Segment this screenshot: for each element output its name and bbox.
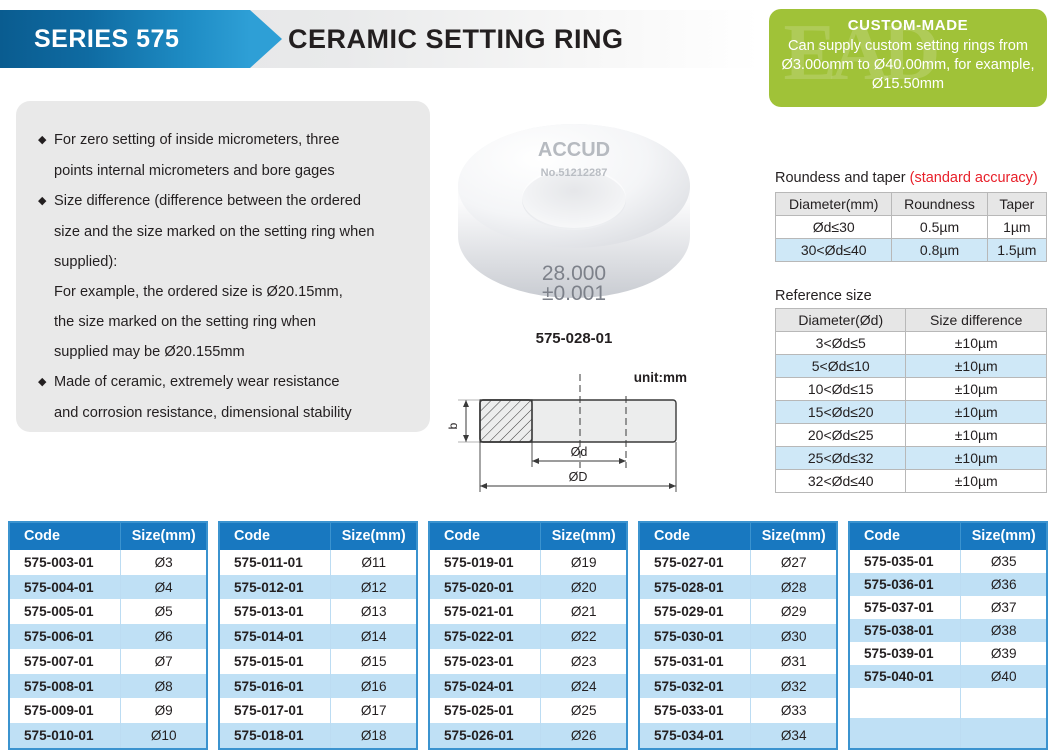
size-cell: Ø4 <box>121 575 207 600</box>
table-row[interactable]: 575-022-01Ø22 <box>429 624 627 649</box>
column-header: Diameter(Ød) <box>776 309 906 332</box>
feature-item: ◆Made of ceramic, extremely wear resista… <box>38 367 412 397</box>
code-table: CodeSize(mm)575-027-01Ø27575-028-01Ø2857… <box>638 521 838 750</box>
column-header: Size(mm) <box>331 522 417 550</box>
size-cell: Ø6 <box>121 624 207 649</box>
table-header-row: Diameter(mm)RoundnessTaper <box>776 193 1047 216</box>
table-row[interactable]: 575-038-01Ø38 <box>849 619 1047 642</box>
size-cell: Ø25 <box>541 698 627 723</box>
feature-text: Made of ceramic, extremely wear resistan… <box>54 367 340 397</box>
table-cell: 10<Ød≤15 <box>776 378 906 401</box>
bullet-diamond-icon: ◆ <box>38 125 54 155</box>
series-arrow-icon <box>250 10 282 68</box>
table-body: Ød≤300.5µm1µm30<Ød≤400.8µm1.5µm <box>776 216 1047 262</box>
table-cell: 1.5µm <box>987 239 1046 262</box>
size-cell: Ø31 <box>751 649 837 674</box>
dim-D-label: ØD <box>569 470 588 484</box>
catalog-page: SERIES 575 CERAMIC SETTING RING EAD CUST… <box>0 0 1056 746</box>
custom-made-box: EAD CUSTOM-MADE Can supply custom settin… <box>769 9 1047 107</box>
code-cell: 575-011-01 <box>219 550 331 575</box>
table-cell: 25<Ød≤32 <box>776 447 906 470</box>
size-cell: Ø35 <box>961 550 1047 573</box>
custom-made-title: CUSTOM-MADE <box>779 17 1037 34</box>
table-header-row: CodeSize(mm) <box>9 522 207 550</box>
table-row[interactable]: 575-033-01Ø33 <box>639 698 837 723</box>
table-row[interactable]: 575-040-01Ø40 <box>849 665 1047 688</box>
size-cell: Ø3 <box>121 550 207 575</box>
feature-text: supplied): <box>54 247 412 277</box>
code-cell: 575-019-01 <box>429 550 541 575</box>
feature-text: For zero setting of inside micrometers, … <box>54 125 340 155</box>
dim-d-label: Ød <box>571 445 588 459</box>
table-row[interactable]: 575-031-01Ø31 <box>639 649 837 674</box>
code-cell <box>849 718 961 749</box>
size-cell: Ø39 <box>961 642 1047 665</box>
table-row: 20<Ød≤25±10µm <box>776 424 1047 447</box>
size-cell: Ø11 <box>331 550 417 575</box>
size-cell: Ø26 <box>541 723 627 749</box>
code-cell: 575-017-01 <box>219 698 331 723</box>
table-row[interactable]: 575-029-01Ø29 <box>639 599 837 624</box>
column-header: Size(mm) <box>751 522 837 550</box>
table-row[interactable]: 575-036-01Ø36 <box>849 573 1047 596</box>
code-cell: 575-021-01 <box>429 599 541 624</box>
cross-section-diagram: b Ød ØD unit:mm <box>444 368 706 498</box>
table-row[interactable]: 575-008-01Ø8 <box>9 674 207 699</box>
table-cell: 20<Ød≤25 <box>776 424 906 447</box>
table-row[interactable]: 575-037-01Ø37 <box>849 596 1047 619</box>
size-cell: Ø17 <box>331 698 417 723</box>
size-cell: Ø14 <box>331 624 417 649</box>
table-row[interactable] <box>849 688 1047 718</box>
table-cell: 0.8µm <box>892 239 987 262</box>
size-cell <box>961 718 1047 749</box>
series-label: SERIES 575 <box>34 25 179 54</box>
code-cell <box>849 688 961 718</box>
table-row[interactable]: 575-019-01Ø19 <box>429 550 627 575</box>
code-cell: 575-016-01 <box>219 674 331 699</box>
table-cell: ±10µm <box>906 378 1047 401</box>
table-body: 3<Ød≤5±10µm5<Ød≤10±10µm10<Ød≤15±10µm15<Ø… <box>776 332 1047 493</box>
table-header-row: CodeSize(mm) <box>219 522 417 550</box>
table-cell: ±10µm <box>906 424 1047 447</box>
code-cell: 575-030-01 <box>639 624 751 649</box>
table-row[interactable]: 575-012-01Ø12 <box>219 575 417 600</box>
table-row[interactable]: 575-018-01Ø18 <box>219 723 417 749</box>
features-panel: ◆For zero setting of inside micrometers,… <box>16 101 430 432</box>
column-header: Size difference <box>906 309 1047 332</box>
reference-caption: Reference size <box>775 288 872 304</box>
bullet-diamond-icon: ◆ <box>38 367 54 397</box>
series-tag: SERIES 575 <box>0 10 250 68</box>
reference-size-table: Diameter(Ød)Size difference 3<Ød≤5±10µm5… <box>775 308 1047 493</box>
technical-drawing: b Ød ØD unit:mm <box>444 368 706 498</box>
table-cell: ±10µm <box>906 470 1047 493</box>
code-cell: 575-015-01 <box>219 649 331 674</box>
size-cell: Ø7 <box>121 649 207 674</box>
serial-mark: No.51212287 <box>541 167 608 179</box>
code-cell: 575-031-01 <box>639 649 751 674</box>
code-cell: 575-037-01 <box>849 596 961 619</box>
code-cell: 575-014-01 <box>219 624 331 649</box>
code-cell: 575-005-01 <box>9 599 121 624</box>
table-row[interactable]: 575-027-01Ø27 <box>639 550 837 575</box>
size-cell: Ø24 <box>541 674 627 699</box>
table-header-row: CodeSize(mm) <box>429 522 627 550</box>
column-header: Roundness <box>892 193 987 216</box>
size-cell: Ø16 <box>331 674 417 699</box>
custom-made-body: Can supply custom setting rings from Ø3.… <box>779 37 1037 94</box>
size-cell: Ø8 <box>121 674 207 699</box>
table-header-row: Diameter(Ød)Size difference <box>776 309 1047 332</box>
table-row[interactable]: 575-026-01Ø26 <box>429 723 627 749</box>
column-header: Code <box>429 522 541 550</box>
column-header: Size(mm) <box>961 522 1047 550</box>
table-row[interactable]: 575-011-01Ø11 <box>219 550 417 575</box>
table-header-row: CodeSize(mm) <box>849 522 1047 550</box>
code-cell: 575-036-01 <box>849 573 961 596</box>
size-cell: Ø34 <box>751 723 837 749</box>
table-row[interactable]: 575-007-01Ø7 <box>9 649 207 674</box>
table-cell: ±10µm <box>906 355 1047 378</box>
code-cell: 575-003-01 <box>9 550 121 575</box>
size-cell: Ø21 <box>541 599 627 624</box>
ceramic-ring-illustration: ACCUD No.51212287 28.000 ±0.001 <box>444 108 704 323</box>
size-cell <box>961 688 1047 718</box>
code-cell: 575-012-01 <box>219 575 331 600</box>
column-header: Code <box>639 522 751 550</box>
roundness-caption-main: Roundess and taper <box>775 170 910 186</box>
table-row[interactable]: 575-020-01Ø20 <box>429 575 627 600</box>
table-row[interactable]: 575-035-01Ø35 <box>849 550 1047 573</box>
column-header: Code <box>219 522 331 550</box>
size-cell: Ø18 <box>331 723 417 749</box>
table-row[interactable]: 575-005-01Ø5 <box>9 599 207 624</box>
table-row: 30<Ød≤400.8µm1.5µm <box>776 239 1047 262</box>
code-cell: 575-013-01 <box>219 599 331 624</box>
code-cell: 575-023-01 <box>429 649 541 674</box>
table-row: 15<Ød≤20±10µm <box>776 401 1047 424</box>
column-header: Code <box>9 522 121 550</box>
code-table: CodeSize(mm)575-035-01Ø35575-036-01Ø3657… <box>848 521 1048 750</box>
size-cell: Ø37 <box>961 596 1047 619</box>
code-cell: 575-004-01 <box>9 575 121 600</box>
table-cell: ±10µm <box>906 332 1047 355</box>
table-row: 32<Ød≤40±10µm <box>776 470 1047 493</box>
size-cell: Ø22 <box>541 624 627 649</box>
size-cell: Ø40 <box>961 665 1047 688</box>
feature-text: size and the size marked on the setting … <box>54 217 412 247</box>
code-cell: 575-022-01 <box>429 624 541 649</box>
feature-text: points internal micrometers and bore gag… <box>54 156 412 186</box>
table-row[interactable]: 575-030-01Ø30 <box>639 624 837 649</box>
table-cell: 32<Ød≤40 <box>776 470 906 493</box>
column-header: Size(mm) <box>541 522 627 550</box>
size-cell: Ø19 <box>541 550 627 575</box>
table-row: 3<Ød≤5±10µm <box>776 332 1047 355</box>
feature-text: and corrosion resistance, dimensional st… <box>54 398 412 428</box>
table-row[interactable]: 575-032-01Ø32 <box>639 674 837 699</box>
feature-text: Size difference (difference between the … <box>54 186 361 216</box>
table-row[interactable]: 575-025-01Ø25 <box>429 698 627 723</box>
table-row: Ød≤300.5µm1µm <box>776 216 1047 239</box>
code-table: CodeSize(mm)575-011-01Ø11575-012-01Ø1257… <box>218 521 418 750</box>
table-cell: 30<Ød≤40 <box>776 239 892 262</box>
table-cell: 3<Ød≤5 <box>776 332 906 355</box>
product-code-label: 575-028-01 <box>444 330 704 347</box>
size-cell: Ø38 <box>961 619 1047 642</box>
table-row[interactable]: 575-017-01Ø17 <box>219 698 417 723</box>
table-row[interactable]: 575-021-01Ø21 <box>429 599 627 624</box>
table-row[interactable]: 575-004-01Ø4 <box>9 575 207 600</box>
size-cell: Ø5 <box>121 599 207 624</box>
code-cell: 575-038-01 <box>849 619 961 642</box>
brand-mark: ACCUD <box>538 139 610 161</box>
table-row: 10<Ød≤15±10µm <box>776 378 1047 401</box>
feature-text: the size marked on the setting ring when <box>54 307 412 337</box>
features-list: ◆For zero setting of inside micrometers,… <box>38 125 412 428</box>
code-cell: 575-024-01 <box>429 674 541 699</box>
code-cell: 575-035-01 <box>849 550 961 573</box>
code-cell: 575-032-01 <box>639 674 751 699</box>
table-row[interactable]: 575-003-01Ø3 <box>9 550 207 575</box>
table-cell: 5<Ød≤10 <box>776 355 906 378</box>
table-row[interactable]: 575-034-01Ø34 <box>639 723 837 749</box>
column-header: Code <box>849 522 961 550</box>
code-cell: 575-010-01 <box>9 723 121 749</box>
table-cell: ±10µm <box>906 401 1047 424</box>
table-row[interactable]: 575-023-01Ø23 <box>429 649 627 674</box>
size-cell: Ø23 <box>541 649 627 674</box>
size-cell: Ø9 <box>121 698 207 723</box>
size-cell: Ø27 <box>751 550 837 575</box>
table-cell: Ød≤30 <box>776 216 892 239</box>
table-row[interactable]: 575-013-01Ø13 <box>219 599 417 624</box>
page-header: SERIES 575 CERAMIC SETTING RING <box>0 10 760 68</box>
size-cell: Ø29 <box>751 599 837 624</box>
code-cell: 575-008-01 <box>9 674 121 699</box>
code-cell: 575-028-01 <box>639 575 751 600</box>
size-cell: Ø10 <box>121 723 207 749</box>
code-cell: 575-034-01 <box>639 723 751 749</box>
code-table: CodeSize(mm)575-003-01Ø3575-004-01Ø4575-… <box>8 521 208 750</box>
code-cell: 575-027-01 <box>639 550 751 575</box>
feature-item: ◆For zero setting of inside micrometers,… <box>38 125 412 155</box>
size-cell: Ø13 <box>331 599 417 624</box>
table-row[interactable]: 575-015-01Ø15 <box>219 649 417 674</box>
table-row[interactable]: 575-010-01Ø10 <box>9 723 207 749</box>
size-cell: Ø32 <box>751 674 837 699</box>
tolerance-mark: ±0.001 <box>542 282 606 305</box>
feature-text: supplied may be Ø20.155mm <box>54 337 412 367</box>
code-cell: 575-025-01 <box>429 698 541 723</box>
size-cell: Ø15 <box>331 649 417 674</box>
table-row[interactable]: 575-009-01Ø9 <box>9 698 207 723</box>
feature-text: For example, the ordered size is Ø20.15m… <box>54 277 412 307</box>
code-cell: 575-026-01 <box>429 723 541 749</box>
table-row: 25<Ød≤32±10µm <box>776 447 1047 470</box>
feature-item: ◆Size difference (difference between the… <box>38 186 412 216</box>
table-row[interactable]: 575-028-01Ø28 <box>639 575 837 600</box>
table-row[interactable]: 575-016-01Ø16 <box>219 674 417 699</box>
code-cell: 575-020-01 <box>429 575 541 600</box>
unit-label: unit:mm <box>634 370 687 385</box>
code-cell: 575-033-01 <box>639 698 751 723</box>
table-row[interactable] <box>849 718 1047 749</box>
size-cell: Ø30 <box>751 624 837 649</box>
dim-b-label: b <box>446 422 460 429</box>
table-row: 5<Ød≤10±10µm <box>776 355 1047 378</box>
page-title: CERAMIC SETTING RING <box>288 10 624 68</box>
roundness-caption-accuracy: (standard accuracy) <box>910 170 1038 186</box>
table-header-row: CodeSize(mm) <box>639 522 837 550</box>
code-cell: 575-006-01 <box>9 624 121 649</box>
table-row[interactable]: 575-024-01Ø24 <box>429 674 627 699</box>
code-cell: 575-029-01 <box>639 599 751 624</box>
table-cell: ±10µm <box>906 447 1047 470</box>
product-photo: ACCUD No.51212287 28.000 ±0.001 <box>444 108 704 323</box>
size-cell: Ø20 <box>541 575 627 600</box>
code-cell: 575-039-01 <box>849 642 961 665</box>
column-header: Diameter(mm) <box>776 193 892 216</box>
code-cell: 575-009-01 <box>9 698 121 723</box>
size-cell: Ø28 <box>751 575 837 600</box>
bullet-diamond-icon: ◆ <box>38 186 54 216</box>
code-cell: 575-007-01 <box>9 649 121 674</box>
table-cell: 1µm <box>987 216 1046 239</box>
table-cell: 0.5µm <box>892 216 987 239</box>
table-row[interactable]: 575-014-01Ø14 <box>219 624 417 649</box>
roundness-caption: Roundess and taper (standard accuracy) <box>775 170 1038 186</box>
column-header: Taper <box>987 193 1046 216</box>
table-row[interactable]: 575-006-01Ø6 <box>9 624 207 649</box>
code-cell: 575-040-01 <box>849 665 961 688</box>
size-cell: Ø33 <box>751 698 837 723</box>
code-table: CodeSize(mm)575-019-01Ø19575-020-01Ø2057… <box>428 521 628 750</box>
table-row[interactable]: 575-039-01Ø39 <box>849 642 1047 665</box>
code-cell: 575-018-01 <box>219 723 331 749</box>
code-tables-group: CodeSize(mm)575-003-01Ø3575-004-01Ø4575-… <box>8 521 1048 750</box>
size-cell: Ø36 <box>961 573 1047 596</box>
table-cell: 15<Ød≤20 <box>776 401 906 424</box>
column-header: Size(mm) <box>121 522 207 550</box>
roundness-table: Diameter(mm)RoundnessTaper Ød≤300.5µm1µm… <box>775 192 1047 262</box>
size-cell: Ø12 <box>331 575 417 600</box>
